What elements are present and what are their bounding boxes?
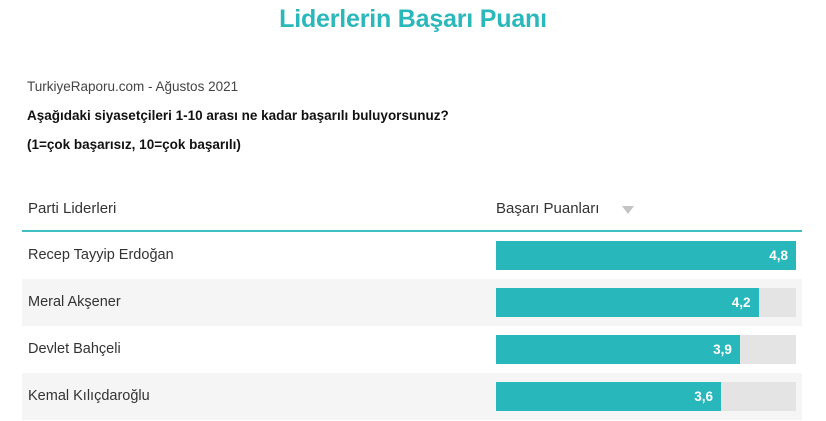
page-title: Liderlerin Başarı Puanı <box>0 5 826 34</box>
bar-fill: 3,6 <box>496 382 721 411</box>
bar-value-label: 4,8 <box>769 241 788 270</box>
scale-line: (1=çok başarısız, 10=çok başarılı) <box>27 136 787 154</box>
table-body: Recep Tayyip Erdoğan4,8Meral Akşener4,2D… <box>22 232 802 420</box>
table-row: Kemal Kılıçdaroğlu3,6 <box>22 373 802 420</box>
table-row: Meral Akşener4,2 <box>22 279 802 326</box>
bar-fill: 3,9 <box>496 335 740 364</box>
column-header-scores[interactable]: Başarı Puanları <box>496 200 599 217</box>
bar-value-label: 3,9 <box>713 335 732 364</box>
leader-name: Meral Akşener <box>28 279 121 326</box>
question-line: Aşağıdaki siyasetçileri 1-10 arası ne ka… <box>27 107 787 125</box>
bar-value-label: 4,2 <box>732 288 751 317</box>
bar-track: 4,8 <box>496 241 796 270</box>
bar-track: 3,6 <box>496 382 796 411</box>
bar-track: 3,9 <box>496 335 796 364</box>
bar-track: 4,2 <box>496 288 796 317</box>
bar-fill: 4,8 <box>496 241 796 270</box>
leader-name: Devlet Bahçeli <box>28 326 121 373</box>
leader-name: Recep Tayyip Erdoğan <box>28 232 174 279</box>
chart-page: Liderlerin Başarı Puanı TurkiyeRaporu.co… <box>0 0 826 421</box>
bar-fill: 4,2 <box>496 288 759 317</box>
table-row: Devlet Bahçeli3,9 <box>22 326 802 373</box>
subtitle-block: TurkiyeRaporu.com - Ağustos 2021 Aşağıda… <box>27 78 787 154</box>
results-table: Parti Liderleri Başarı Puanları Recep Ta… <box>22 192 802 420</box>
caret-down-icon[interactable] <box>622 206 634 214</box>
table-row: Recep Tayyip Erdoğan4,8 <box>22 232 802 279</box>
column-header-leaders[interactable]: Parti Liderleri <box>28 200 116 217</box>
source-line: TurkiyeRaporu.com - Ağustos 2021 <box>27 78 787 96</box>
bar-value-label: 3,6 <box>694 382 713 411</box>
leader-name: Kemal Kılıçdaroğlu <box>28 373 150 420</box>
table-header-row: Parti Liderleri Başarı Puanları <box>22 192 802 232</box>
